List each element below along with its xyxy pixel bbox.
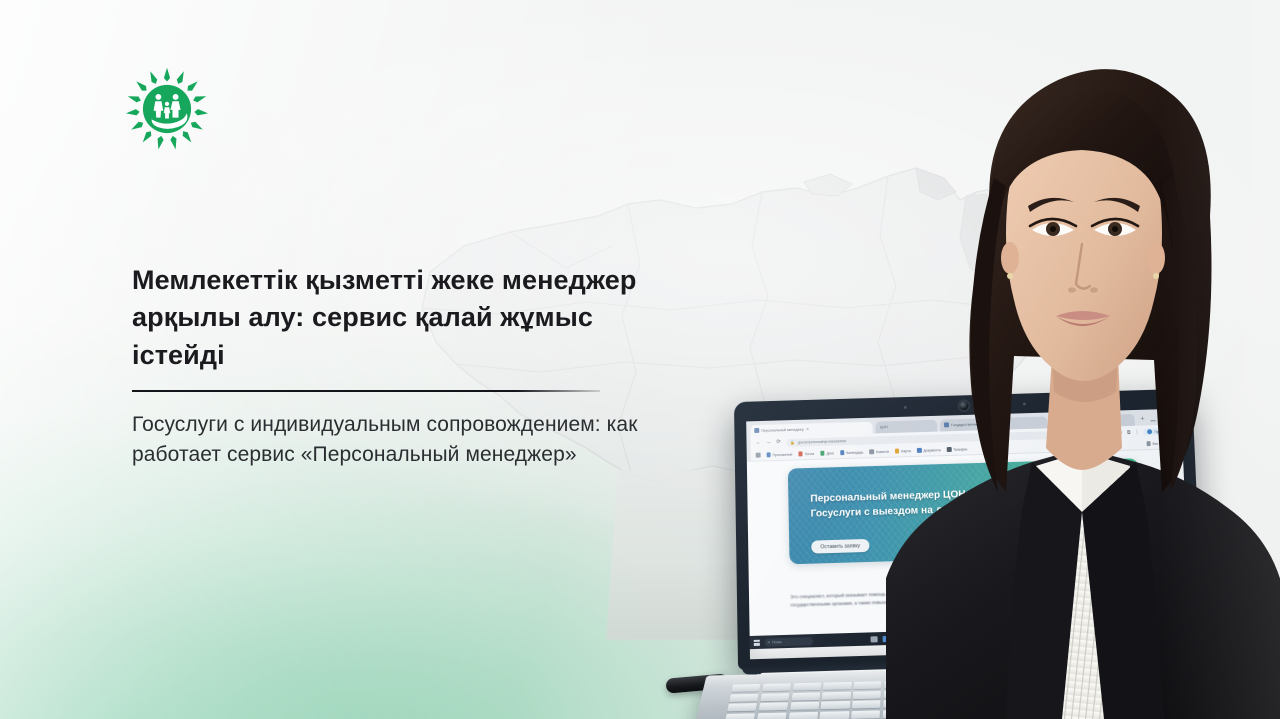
apps-grid-icon xyxy=(756,453,761,458)
folder-icon[interactable] xyxy=(871,636,878,642)
lock-icon: 🔒 xyxy=(790,440,795,445)
back-icon[interactable]: ← xyxy=(755,440,761,446)
bookmark-item[interactable]: Диск xyxy=(820,451,834,456)
bookmark-favicon-icon xyxy=(798,452,803,457)
url-text: gov.kz/personalnyi-menedzher xyxy=(798,439,846,444)
bookmark-item[interactable]: Календарь xyxy=(840,450,864,455)
search-icon: ⌕ xyxy=(768,639,770,644)
hero-cta-button[interactable]: Оставить заявку xyxy=(811,539,869,554)
windows-start-icon[interactable] xyxy=(754,639,760,645)
bookmark-label: Календарь xyxy=(846,450,863,454)
bookmark-favicon-icon xyxy=(869,450,874,455)
page-subtitle: Госуслуги с индивидуальным сопровождение… xyxy=(132,410,652,470)
taskbar-search-input[interactable]: ⌕ Поиск xyxy=(765,637,813,647)
search-placeholder: Поиск xyxy=(772,640,782,644)
copy-block: Мемлекеттік қызметті жеке менеджер арқыл… xyxy=(132,262,652,470)
bookmark-label: Диск xyxy=(827,451,834,455)
promo-banner: Мемлекеттік қызметті жеке менеджер арқыл… xyxy=(0,0,1280,719)
sun-family-hand-logo-icon xyxy=(124,66,210,152)
bookmark-favicon-icon xyxy=(820,451,825,456)
forward-icon[interactable]: → xyxy=(766,440,772,446)
page-title: Мемлекеттік қызметті жеке менеджер арқыл… xyxy=(132,262,652,374)
tab-favicon-icon xyxy=(754,428,759,433)
bookmark-favicon-icon xyxy=(840,450,845,455)
tab-close-icon[interactable]: ✕ xyxy=(806,426,809,431)
bookmark-label: Почта xyxy=(805,452,814,456)
title-divider xyxy=(132,390,600,392)
bookmark-item[interactable] xyxy=(756,453,761,458)
bookmark-label: Приложения xyxy=(773,452,793,457)
tab-title: Персональный менеджер xyxy=(761,427,804,432)
reload-icon[interactable]: ⟳ xyxy=(776,440,781,446)
bookmark-favicon-icon xyxy=(766,453,771,458)
bookmark-item[interactable]: Почта xyxy=(798,451,814,456)
bookmark-item[interactable]: Приложения xyxy=(766,452,792,457)
presenter-photo xyxy=(886,0,1280,719)
